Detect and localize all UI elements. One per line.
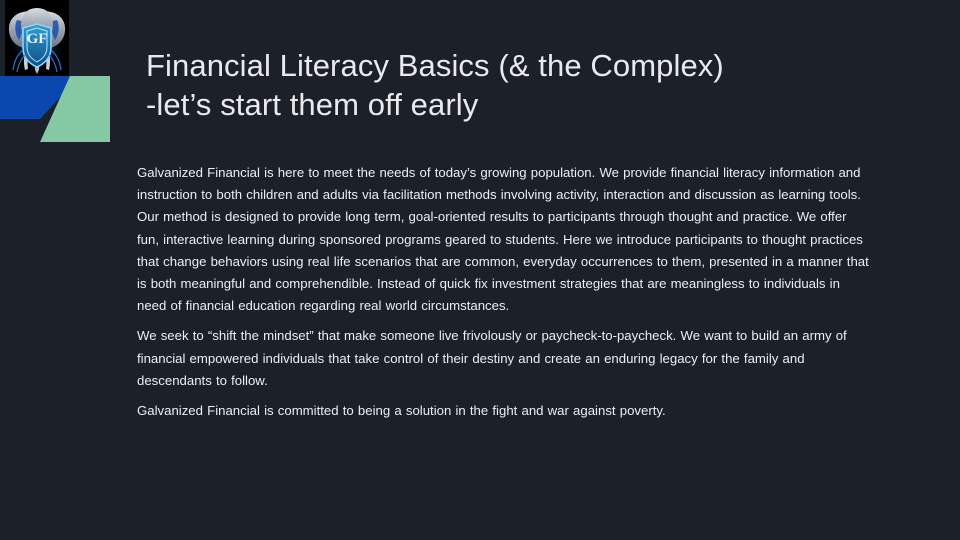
logo-badge: GF [5, 0, 69, 76]
title-line-1: Financial Literacy Basics (& the Complex… [146, 46, 846, 85]
blue-parallelogram [0, 76, 80, 119]
slide-canvas: GF Financial Literacy Basics (& the Comp… [0, 0, 960, 540]
svg-text:GF: GF [27, 31, 48, 47]
body-paragraph-3: Galvanized Financial is committed to bei… [137, 400, 872, 422]
body-paragraph-1: Galvanized Financial is here to meet the… [137, 162, 872, 317]
body-paragraph-2: We seek to “shift the mindset” that make… [137, 325, 872, 392]
elephant-shield-logo-icon: GF [5, 0, 69, 76]
green-parallelogram [40, 76, 110, 142]
title-line-2: -let’s start them off early [146, 85, 846, 124]
body-text-block: Galvanized Financial is here to meet the… [137, 162, 872, 422]
page-title: Financial Literacy Basics (& the Complex… [146, 46, 846, 124]
